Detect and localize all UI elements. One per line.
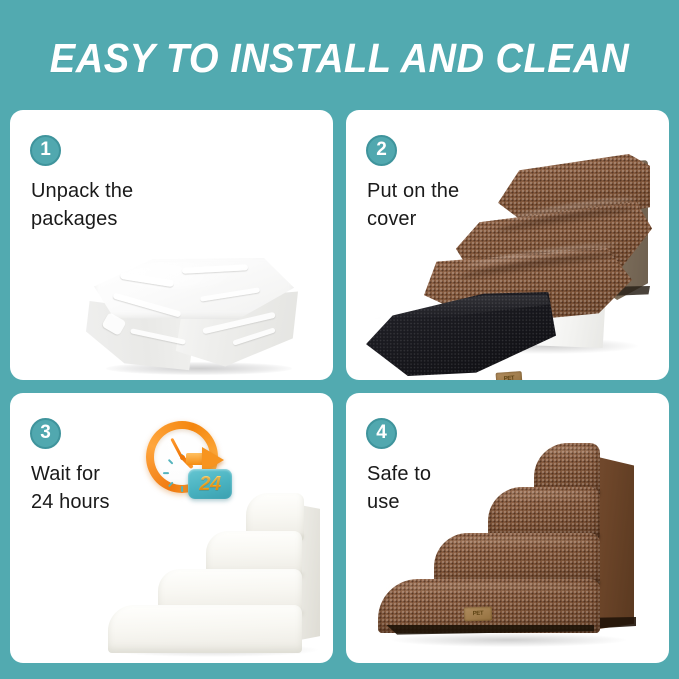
step-card-unpack: 1 Unpack the packages (10, 110, 333, 380)
step-card-wait-24-hours: 3 Wait for 24 hours (10, 393, 333, 663)
page-title: EASY TO INSTALL AND CLEAN (50, 35, 629, 82)
covered-step-highlight (388, 583, 588, 593)
step-number-badge-2: 2 (366, 135, 397, 166)
covered-step-highlight (540, 447, 596, 457)
clock-tick (168, 481, 174, 487)
step-caption-3: Wait for 24 hours (31, 460, 110, 516)
step-number-badge-1: 1 (30, 135, 61, 166)
step-number-badge-4: 4 (366, 418, 397, 449)
stairs-shadow (392, 633, 626, 647)
step-caption-2: Put on the cover (367, 177, 459, 233)
step-number-2: 2 (376, 140, 387, 159)
step-number-4: 4 (376, 423, 387, 442)
white-foam-stairs-illustration (96, 491, 328, 659)
brand-logo-tag: PET (496, 371, 523, 380)
vacuum-package-illustration (82, 258, 312, 378)
step-caption-1: Unpack the packages (31, 177, 133, 233)
covered-step-highlight (442, 537, 592, 547)
foam-step (108, 605, 302, 653)
clock-center-pin (180, 455, 185, 460)
brand-logo-tag: PET (464, 607, 492, 622)
clock-tick (168, 459, 174, 465)
header-banner: EASY TO INSTALL AND CLEAN (0, 0, 679, 110)
step-card-safe-to-use: 4 Safe to use PET (346, 393, 669, 663)
step-number-1: 1 (40, 140, 51, 159)
brand-logo-tag-text: PET (496, 371, 523, 380)
covered-step-highlight (496, 491, 592, 501)
step-number-badge-3: 3 (30, 418, 61, 449)
steps-grid: 1 Unpack the packages 2 Put on the cover (10, 110, 669, 670)
brand-logo-tag-text: PET (464, 607, 492, 622)
clock-tick (163, 472, 169, 474)
step-card-put-on-cover: 2 Put on the cover PET (346, 110, 669, 380)
step-caption-4: Safe to use (367, 460, 431, 516)
step-number-3: 3 (40, 423, 51, 442)
